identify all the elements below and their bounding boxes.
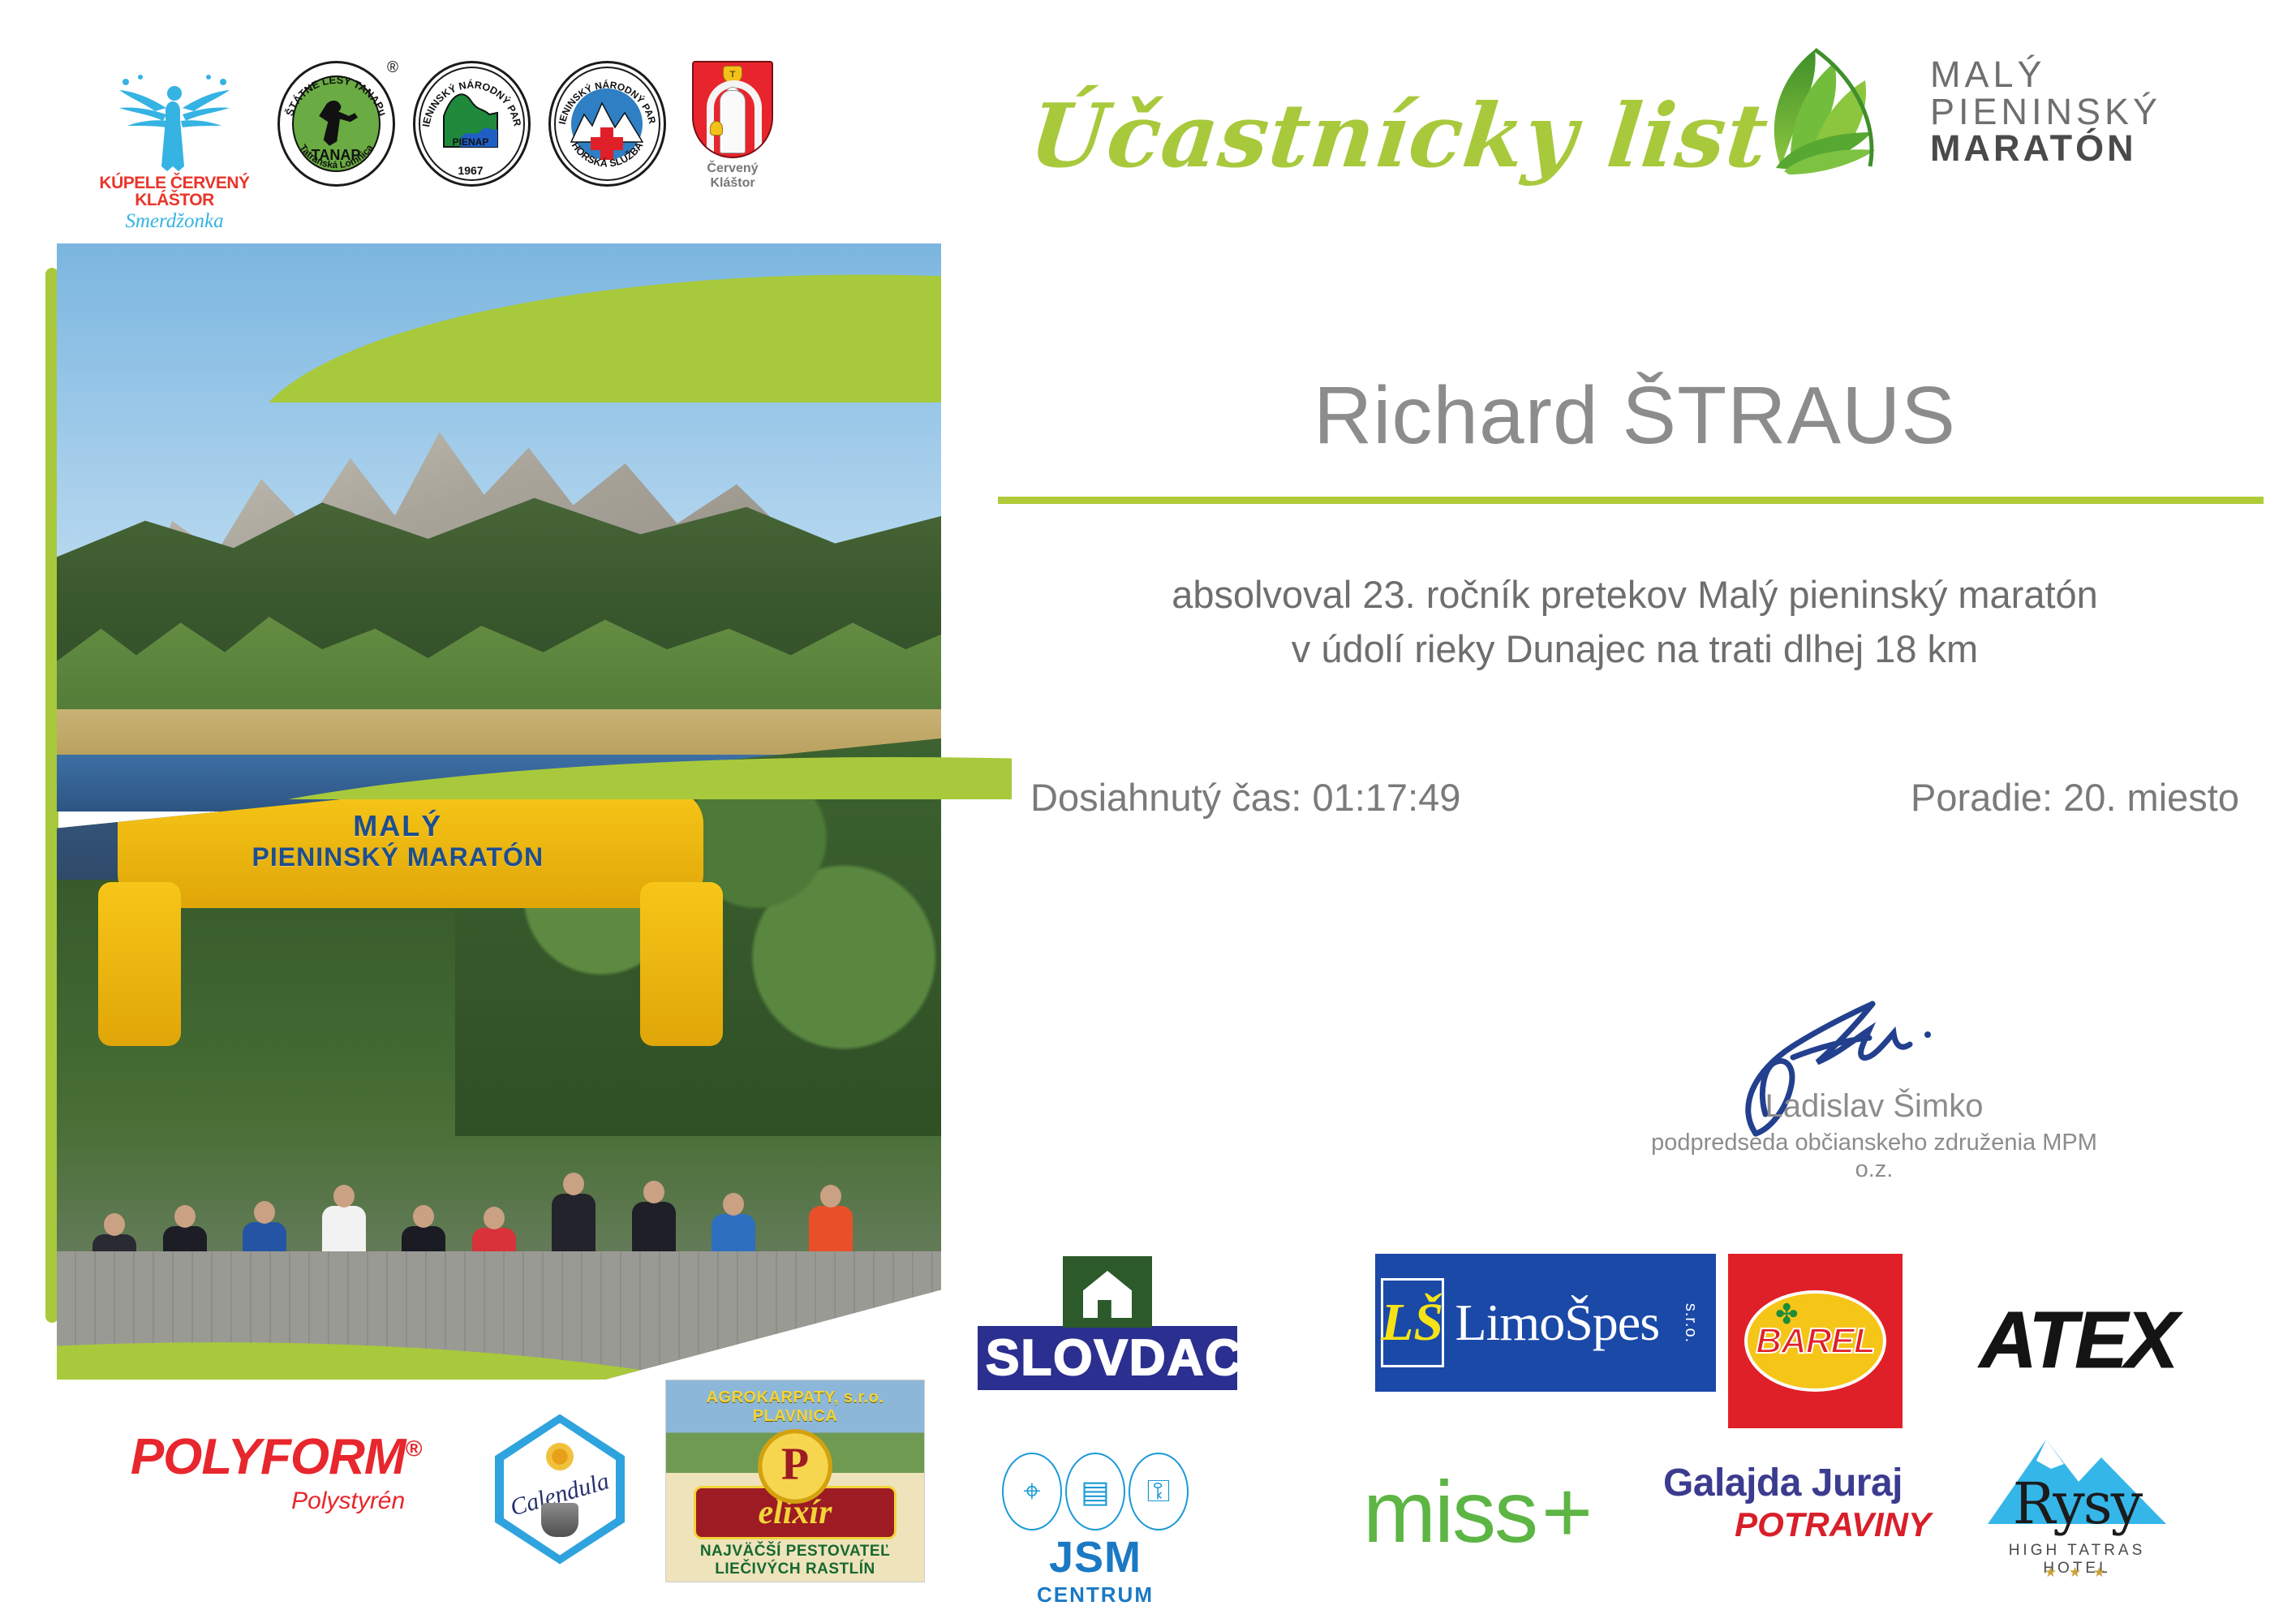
star-rating-icon: ★ ★ ★ <box>1980 1565 2174 1581</box>
limospes-glyph: LŠ <box>1381 1292 1443 1354</box>
clover-icon: ✤ <box>1775 1298 1799 1331</box>
jsm-subtitle: CENTRUM <box>974 1582 1217 1608</box>
description-line1: absolvoval 23. ročník pretekov Malý pien… <box>998 568 2272 622</box>
polyform-wordmark: POLYFORM® <box>131 1428 421 1486</box>
elixir-tagline2: LIEČIVÝCH RASTLÍN <box>666 1561 924 1578</box>
pienap-logo: PIENINSKÝ NÁRODNÝ PARK PIENAP 1967 <box>413 61 531 187</box>
sponsor-galajda-juraj: Galajda Juraj POTRAVINY <box>1663 1461 1931 1544</box>
agrokarpaty-seal-icon: P <box>758 1429 832 1504</box>
horska-sluzba-arc-text-icon: PIENINSKÝ NÁRODNÝ PARK HORSKÁ SLUŽBA <box>548 61 666 187</box>
seal-letter: P <box>781 1438 809 1490</box>
page-title: Účastnícky list <box>1025 85 1773 187</box>
house-roof-icon <box>1063 1256 1152 1328</box>
plus-icon: + <box>1541 1461 1593 1562</box>
mpm-wordmark: MALÝ PIENINSKÝ MARATÓN <box>1930 56 2161 168</box>
mortar-pestle-icon <box>541 1503 578 1537</box>
shield-icon: T <box>692 61 773 158</box>
flower-icon <box>546 1443 574 1470</box>
recipient-name: Richard ŠTRAUS <box>998 369 2272 463</box>
rank-place: Poradie: 20. miesto <box>1911 775 2239 820</box>
maly-pieninsky-maraton-logo: MALÝ PIENINSKÝ MARATÓN <box>1756 45 2161 179</box>
paint-brush-icon: ⌖ <box>1002 1453 1062 1530</box>
description-text: absolvoval 23. ročník pretekov Malý pien… <box>998 568 2272 676</box>
mpm-line1: MALÝ <box>1930 56 2161 93</box>
limospes-wordmark: LimoŠpes <box>1455 1293 1660 1353</box>
galajda-name: Galajda Juraj <box>1663 1461 1931 1505</box>
svg-text:TANAP: TANAP <box>312 147 361 163</box>
certificate-page: KÚPELE ČERVENÝ KLÁŠTOR Smerdžonka ŠTÁTNE… <box>0 0 2296 1623</box>
kupele-cerveny-klastor-logo: KÚPELE ČERVENÝ KLÁŠTOR Smerdžonka <box>89 61 260 233</box>
sponsor-agrokarpaty-elixir: AGROKARPATY, s.r.o. PLAVNICA P elixír NA… <box>665 1380 925 1582</box>
leaf-mountain-icon <box>1756 45 1911 179</box>
sponsor-calendula: Calendula <box>487 1412 633 1566</box>
sponsor-jsm-centrum: ⌖ ▤ ⚿ JSM CENTRUM <box>974 1453 1217 1608</box>
header-logo-row: KÚPELE ČERVENÝ KLÁŠTOR Smerdžonka ŠTÁTNE… <box>89 61 781 233</box>
pieniny-tri-koruny-dunajec-photo <box>57 243 941 811</box>
signature-block: Ladislav Šimko podpredseda občianskeho z… <box>1647 1002 2101 1183</box>
sponsor-slovdach: SLOVDACHs.r.o. <box>978 1256 1237 1390</box>
tanap-arc-text-icon: ŠTÁTNE LESY TANAPu Tatranská Lomnica TAN… <box>277 61 395 187</box>
race-start-photo: MALÝ PIENINSKÝ MARATÓN 31-A 275 199 <box>57 738 941 1380</box>
arch-text-line1: MALÝ <box>181 810 614 842</box>
polyform-tagline: Polystyrén <box>131 1487 421 1515</box>
registered-icon: ® <box>406 1436 422 1461</box>
signatory-name: Ladislav Šimko <box>1647 1088 2101 1125</box>
arch-text-line2: PIENINSKÝ MARATÓN <box>181 843 614 872</box>
kupele-title: KÚPELE ČERVENÝ KLÁŠTOR <box>89 174 260 209</box>
agrokarpaty-header: AGROKARPATY, s.r.o. PLAVNICA <box>666 1384 924 1426</box>
statne-lesy-tanapu-logo: ŠTÁTNE LESY TANAPu Tatranská Lomnica TAN… <box>277 61 395 187</box>
cerveny-klastor-coat-of-arms: T Červený Kláštor <box>684 61 781 191</box>
svg-text:1967: 1967 <box>458 164 483 177</box>
slovdach-suffix: s.r.o. <box>1281 1344 1325 1360</box>
shower-icon: ⚿ <box>1129 1453 1189 1530</box>
mpm-line2: PIENINSKÝ <box>1930 93 2161 131</box>
sponsor-limospes: LŠ LimoŠpes s.r.o. <box>1375 1254 1716 1392</box>
description-line2: v údolí rieky Dunajec na trati dlhej 18 … <box>998 622 2272 677</box>
svg-text:PIENAP: PIENAP <box>453 136 489 148</box>
barel-wordmark: BAREL <box>1756 1321 1875 1362</box>
sponsor-rysy-hotel: Rysy HIGH TATRAS HOTEL ★ ★ ★ <box>1980 1428 2174 1591</box>
limospes-mark-icon: LŠ <box>1381 1278 1444 1367</box>
pienap-horska-sluzba-logo: PIENINSKÝ NÁRODNÝ PARK HORSKÁ SLUŽBA <box>548 61 666 187</box>
limospes-suffix: s.r.o. <box>1681 1302 1700 1342</box>
green-divider <box>998 497 2264 504</box>
miss-wordmark: miss <box>1363 1461 1537 1562</box>
galajda-subtitle: POTRAVINY <box>1663 1505 1931 1544</box>
water-wings-figure-icon <box>89 61 260 174</box>
results-row: Dosiahnutý čas: 01:17:49 Poradie: 20. mi… <box>998 775 2272 820</box>
photo-collage: MALÝ PIENINSKÝ MARATÓN 31-A 275 199 <box>57 243 941 1380</box>
tool-icon: ▤ <box>1065 1453 1125 1530</box>
finish-time: Dosiahnutý čas: 01:17:49 <box>1030 775 1460 820</box>
sponsor-miss-plus: miss + <box>1363 1461 1593 1562</box>
mpm-line3: MARATÓN <box>1930 130 2161 167</box>
sponsor-polyform: POLYFORM® Polystyrén <box>105 1428 446 1515</box>
sponsor-barel: ✤ BAREL <box>1728 1254 1903 1428</box>
slovdach-wordmark: SLOVDACHs.r.o. <box>978 1326 1237 1390</box>
rysy-wordmark: Rysy <box>1980 1470 2174 1537</box>
sponsor-atex: ATEX <box>1980 1294 2176 1386</box>
pienap-arc-text-icon: PIENINSKÝ NÁRODNÝ PARK PIENAP 1967 <box>413 61 531 187</box>
registered-icon: ® <box>387 59 398 77</box>
cerveny-klastor-label: Červený Kláštor <box>684 161 781 191</box>
kupele-subtitle: Smerdžonka <box>89 210 260 233</box>
elixir-tagline1: NAJVÄČŠÍ PESTOVATEĽ <box>666 1543 924 1561</box>
jsm-wordmark: JSM <box>974 1532 1217 1582</box>
